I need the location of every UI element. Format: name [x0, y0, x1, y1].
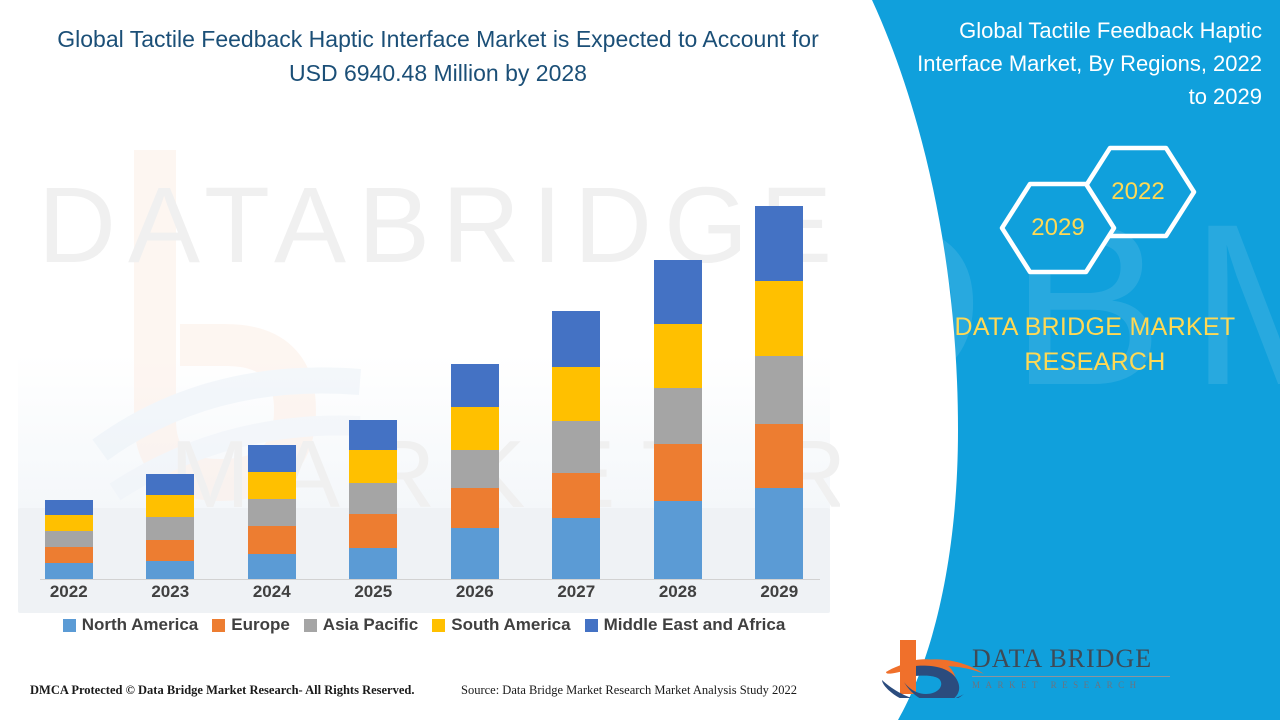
bar-segment[interactable]: [654, 388, 702, 444]
bar-segment[interactable]: [552, 311, 600, 367]
x-axis-tick-label: 2026: [430, 582, 520, 608]
legend-label: North America: [82, 615, 199, 635]
footer-source: Source: Data Bridge Market Research Mark…: [461, 683, 797, 698]
x-axis-tick-label: 2024: [227, 582, 317, 608]
x-axis-tick-label: 2027: [531, 582, 621, 608]
x-axis-tick-label: 2022: [24, 582, 114, 608]
legend-label: Middle East and Africa: [604, 615, 786, 635]
stacked-bar[interactable]: [451, 364, 499, 579]
bar-segment[interactable]: [451, 364, 499, 407]
hexagon-front-label: 2029: [1002, 214, 1114, 242]
legend-swatch-icon: [212, 619, 225, 632]
bar-segment[interactable]: [552, 421, 600, 473]
bar-segment[interactable]: [654, 260, 702, 324]
bar-segment[interactable]: [146, 517, 194, 540]
bar-segment[interactable]: [349, 450, 397, 483]
bar-segment[interactable]: [552, 367, 600, 421]
logo-main-text: DATA BRIDGE: [972, 644, 1202, 674]
bar-segment[interactable]: [248, 554, 296, 579]
bar-segment[interactable]: [45, 500, 93, 515]
bar-segment[interactable]: [146, 495, 194, 517]
bar-segment[interactable]: [248, 526, 296, 554]
bar-segment[interactable]: [451, 450, 499, 488]
chart-legend: North AmericaEuropeAsia PacificSouth Ame…: [18, 615, 830, 635]
hexagon-back-label: 2022: [1082, 178, 1194, 206]
bar-segment[interactable]: [755, 356, 803, 424]
bar-column: [125, 159, 215, 579]
legend-label: Europe: [231, 615, 290, 635]
stacked-bar[interactable]: [248, 445, 296, 579]
bar-column: [328, 159, 418, 579]
x-axis-tick-label: 2023: [125, 582, 215, 608]
bar-segment[interactable]: [146, 561, 194, 579]
logo-divider: [972, 676, 1170, 677]
bar-segment[interactable]: [552, 518, 600, 579]
bar-segment[interactable]: [45, 563, 93, 579]
legend-item[interactable]: Europe: [212, 615, 290, 635]
logo-wordmark: DATA BRIDGE MARKET RESEARCH: [972, 644, 1202, 690]
page-title: Global Tactile Feedback Haptic Interface…: [32, 22, 844, 90]
legend-swatch-icon: [304, 619, 317, 632]
x-axis-tick-label: 2029: [734, 582, 824, 608]
x-axis-labels: 20222023202420252026202720282029: [18, 582, 830, 608]
bar-segment[interactable]: [755, 281, 803, 356]
legend-item[interactable]: Asia Pacific: [304, 615, 418, 635]
brand-line-2: RESEARCH: [950, 345, 1240, 380]
brand-line-1: DATA BRIDGE MARKET: [950, 310, 1240, 345]
legend-item[interactable]: North America: [63, 615, 199, 635]
chart-bars: [18, 159, 830, 579]
legend-label: South America: [451, 615, 570, 635]
bar-segment[interactable]: [45, 547, 93, 563]
bar-segment[interactable]: [654, 444, 702, 501]
panel-title: Global Tactile Feedback Haptic Interface…: [912, 14, 1262, 113]
legend-swatch-icon: [432, 619, 445, 632]
bar-column: [531, 159, 621, 579]
bar-segment[interactable]: [45, 531, 93, 547]
brand-panel: DBMR Global Tactile Feedback Haptic Inte…: [840, 0, 1280, 720]
bar-segment[interactable]: [552, 473, 600, 518]
x-axis-tick-label: 2025: [328, 582, 418, 608]
bar-column: [430, 159, 520, 579]
bar-segment[interactable]: [349, 483, 397, 514]
hexagon-icons: [990, 140, 1220, 280]
bar-segment[interactable]: [755, 488, 803, 579]
footer: DMCA Protected © Data Bridge Market Rese…: [0, 683, 860, 707]
legend-label: Asia Pacific: [323, 615, 418, 635]
stacked-bar[interactable]: [755, 206, 803, 579]
stacked-bar[interactable]: [654, 260, 702, 579]
bar-segment[interactable]: [248, 499, 296, 526]
bar-segment[interactable]: [349, 420, 397, 450]
x-axis-tick-label: 2028: [633, 582, 723, 608]
bar-segment[interactable]: [451, 528, 499, 579]
stacked-bar[interactable]: [552, 311, 600, 579]
brand-name: DATA BRIDGE MARKET RESEARCH: [950, 310, 1240, 380]
stacked-bar[interactable]: [146, 474, 194, 579]
bar-segment[interactable]: [654, 324, 702, 388]
bar-segment[interactable]: [451, 407, 499, 450]
bar-column: [734, 159, 824, 579]
bar-segment[interactable]: [146, 540, 194, 561]
legend-swatch-icon: [63, 619, 76, 632]
bar-segment[interactable]: [349, 514, 397, 548]
bar-segment[interactable]: [755, 424, 803, 488]
bar-segment[interactable]: [45, 515, 93, 531]
logo-sub-text: MARKET RESEARCH: [972, 680, 1202, 690]
bar-segment[interactable]: [349, 548, 397, 579]
bar-column: [633, 159, 723, 579]
bar-segment[interactable]: [248, 445, 296, 472]
bar-column: [24, 159, 114, 579]
x-axis-line: [40, 579, 820, 580]
hexagon-group: 2022 2029: [990, 140, 1220, 280]
bar-segment[interactable]: [146, 474, 194, 495]
bar-segment[interactable]: [755, 206, 803, 281]
legend-item[interactable]: Middle East and Africa: [585, 615, 786, 635]
legend-item[interactable]: South America: [432, 615, 570, 635]
stacked-bar[interactable]: [45, 500, 93, 579]
bar-segment[interactable]: [451, 488, 499, 528]
footer-dmca: DMCA Protected © Data Bridge Market Rese…: [30, 683, 415, 698]
bar-segment[interactable]: [248, 472, 296, 499]
stacked-bar-chart: 20222023202420252026202720282029: [18, 120, 830, 580]
bar-segment[interactable]: [654, 501, 702, 579]
bar-column: [227, 159, 317, 579]
stacked-bar[interactable]: [349, 420, 397, 579]
legend-swatch-icon: [585, 619, 598, 632]
